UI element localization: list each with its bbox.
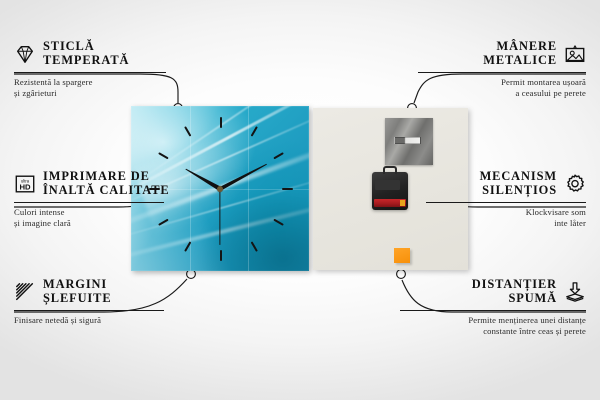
feature-glass-title-2: TEMPERATĂ: [43, 54, 129, 68]
feature-edges-sub: Finisare netedă și sigură: [14, 315, 164, 327]
feature-hangers-title-2: METALICE: [483, 54, 557, 68]
feature-hangers-title-1: MÂNERE: [483, 40, 557, 54]
feature-spacer-head: DISTANȚIER SPUMĂ: [400, 278, 586, 306]
polished-edge-icon: [14, 281, 36, 303]
svg-text:HD: HD: [19, 182, 31, 191]
feature-spacer: DISTANȚIER SPUMĂ Permite menținerea unei…: [400, 278, 586, 338]
feature-edges: MARGINI ȘLEFUITE Finisare netedă și sigu…: [14, 278, 164, 326]
feature-hangers-sub-1: Permit montarea ușoară: [418, 77, 586, 89]
feature-spacer-titles: DISTANȚIER SPUMĂ: [472, 278, 557, 306]
foam-spacer-part: [394, 248, 410, 263]
feature-hangers-head: MÂNERE METALICE: [418, 40, 586, 68]
hour-mark: [220, 117, 222, 128]
clock-second-hand: [219, 189, 220, 245]
hour-mark: [158, 152, 169, 159]
feature-spacer-sub-2: constante între ceas și perete: [400, 326, 586, 338]
feature-print-head: ultra HD IMPRIMARE DE ÎNALTĂ CALITATE: [14, 170, 164, 198]
feature-mechanism-title-2: SILENȚIOS: [480, 184, 557, 198]
feature-mechanism: MECANISM SILENȚIOS Klockvisare som inte …: [426, 170, 586, 230]
feature-mechanism-rule: [426, 202, 586, 203]
feature-mechanism-head: MECANISM SILENȚIOS: [426, 170, 586, 198]
feature-print-sub-2: și imagine clară: [14, 218, 164, 230]
feature-print-title-1: IMPRIMARE DE: [43, 170, 170, 184]
clock-center-cap: [217, 186, 223, 192]
mechanism-dial: [375, 180, 400, 190]
hour-mark: [251, 241, 258, 252]
feature-mechanism-sub-2: inte låter: [426, 218, 586, 230]
clock-minute-hand: [219, 162, 268, 190]
feature-glass-sub-2: și zgârieturi: [14, 88, 166, 100]
feature-glass-sub-1: Rezistentă la spargere: [14, 77, 166, 89]
feature-mechanism-titles: MECANISM SILENȚIOS: [480, 170, 557, 198]
hanger-slot: [394, 137, 421, 144]
feature-glass: STICLĂ TEMPERATĂ Rezistentă la spargere …: [14, 40, 166, 100]
feature-edges-sub-1: Finisare netedă și sigură: [14, 315, 164, 327]
hour-mark: [273, 152, 284, 159]
ultra-hd-icon: ultra HD: [14, 173, 36, 195]
feature-glass-titles: STICLĂ TEMPERATĂ: [43, 40, 129, 68]
foam-spacer-icon: [564, 281, 586, 303]
feature-spacer-sub: Permite menținerea unei distanțe constan…: [400, 315, 586, 338]
feature-hangers-titles: MÂNERE METALICE: [483, 40, 557, 68]
feature-mechanism-sub-1: Klockvisare som: [426, 207, 586, 219]
hour-mark: [184, 126, 191, 137]
feature-hangers-rule: [418, 72, 586, 73]
feature-print-rule: [14, 202, 164, 203]
feature-glass-title-1: STICLĂ: [43, 40, 129, 54]
mechanism-shaft: [383, 166, 397, 174]
feature-print-sub: Culori intense și imagine clară: [14, 207, 164, 230]
feature-hangers-sub: Permit montarea ușoară a ceasului pe per…: [418, 77, 586, 100]
feature-spacer-sub-1: Permite menținerea unei distanțe: [400, 315, 586, 327]
feature-edges-title-1: MARGINI: [43, 278, 112, 292]
battery: [374, 199, 406, 207]
feature-print-titles: IMPRIMARE DE ÎNALTĂ CALITATE: [43, 170, 170, 198]
feature-hangers-sub-2: a ceasului pe perete: [418, 88, 586, 100]
feature-spacer-title-1: DISTANȚIER: [472, 278, 557, 292]
clock-hour-hand: [184, 167, 221, 191]
hour-mark: [184, 241, 191, 252]
infographic-canvas: STICLĂ TEMPERATĂ Rezistentă la spargere …: [0, 0, 600, 400]
feature-glass-sub: Rezistentă la spargere și zgârieturi: [14, 77, 166, 100]
feature-edges-rule: [14, 310, 164, 311]
diamond-icon: [14, 43, 36, 65]
hour-mark: [251, 126, 258, 137]
feature-print-sub-1: Culori intense: [14, 207, 164, 219]
hour-mark: [273, 218, 284, 225]
gear-icon: [564, 173, 586, 195]
feature-mechanism-title-1: MECANISM: [480, 170, 557, 184]
feature-print: ultra HD IMPRIMARE DE ÎNALTĂ CALITATE Cu…: [14, 170, 164, 230]
feature-edges-titles: MARGINI ȘLEFUITE: [43, 278, 112, 306]
feature-glass-head: STICLĂ TEMPERATĂ: [14, 40, 166, 68]
feature-print-title-2: ÎNALTĂ CALITATE: [43, 184, 170, 198]
feature-glass-rule: [14, 72, 166, 73]
feature-hangers: MÂNERE METALICE Permit montarea ușoară a…: [418, 40, 586, 100]
feature-edges-title-2: ȘLEFUITE: [43, 292, 112, 306]
quartz-mechanism: [372, 172, 408, 210]
picture-hanger-icon: [564, 43, 586, 65]
hour-mark: [220, 250, 222, 261]
metal-hanger-plate: [385, 118, 433, 165]
feature-edges-head: MARGINI ȘLEFUITE: [14, 278, 164, 306]
feature-mechanism-sub: Klockvisare som inte låter: [426, 207, 586, 230]
hour-mark: [282, 188, 293, 190]
feature-spacer-rule: [400, 310, 586, 311]
feature-spacer-title-2: SPUMĂ: [472, 292, 557, 306]
